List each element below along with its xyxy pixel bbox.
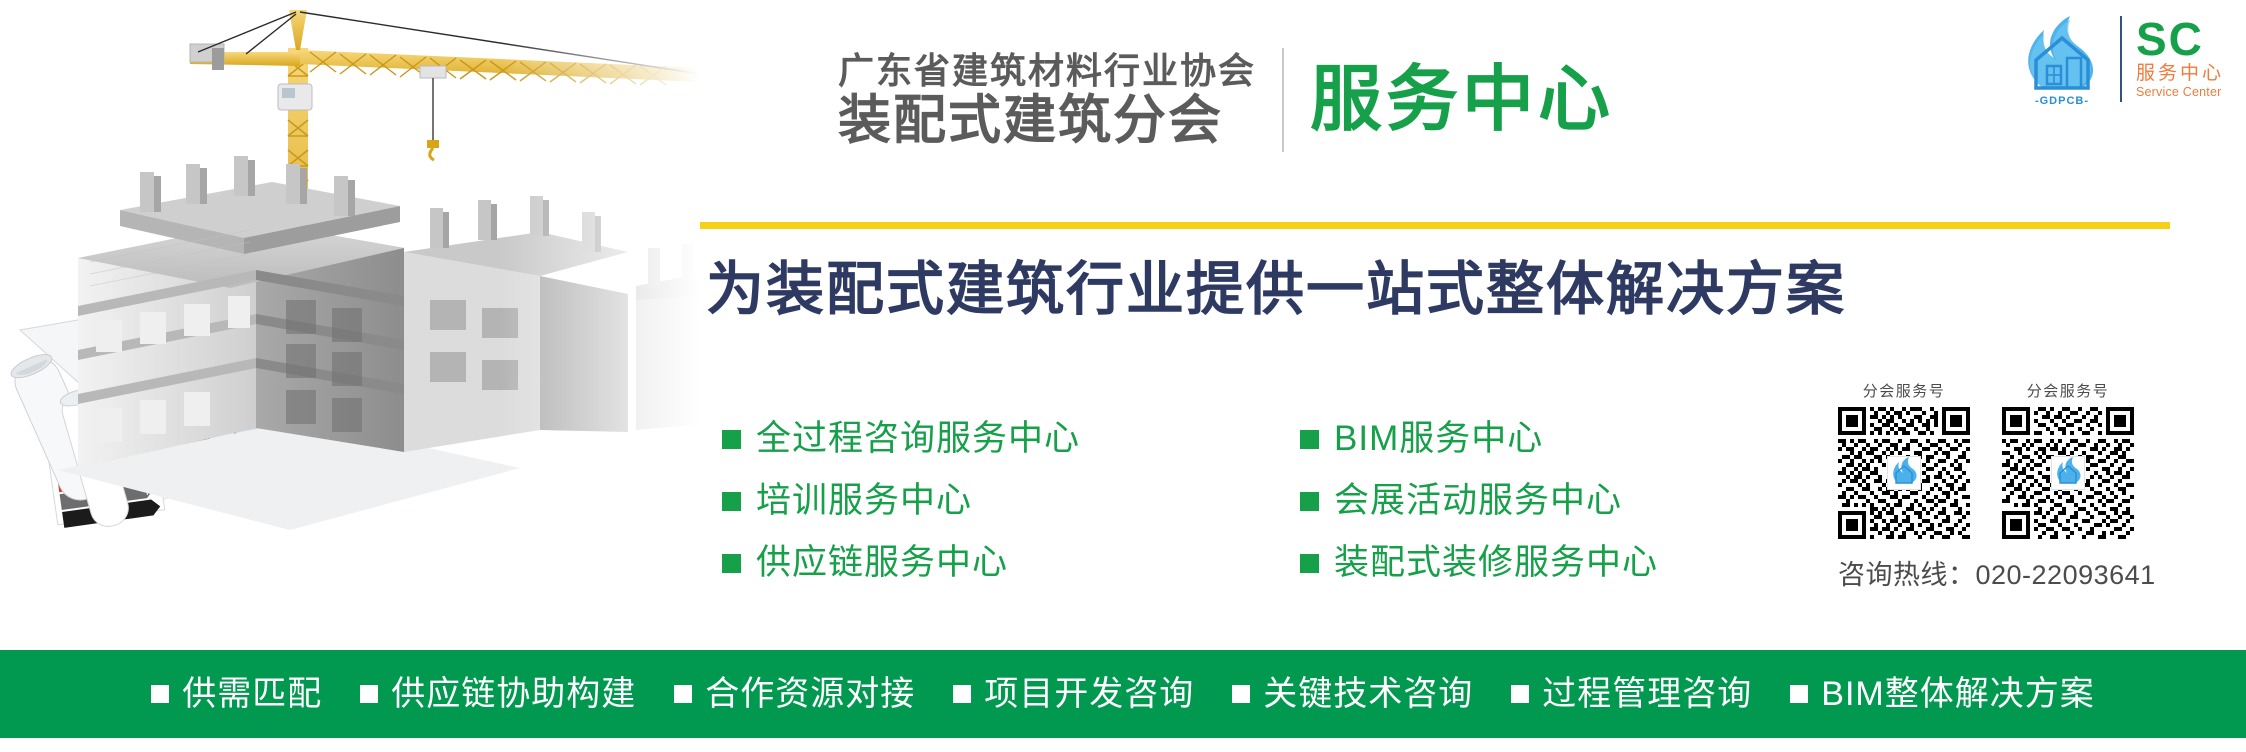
square-bullet-icon [722,492,741,511]
square-bullet-icon [1790,685,1808,703]
footer-item[interactable]: 供应链协助构建 [360,675,636,713]
qr-center-logo-icon [2051,456,2085,490]
footer-item-label: 项目开发咨询 [984,675,1194,713]
organization-name-stack: 广东省建筑材料行业协会 装配式建筑分会 [838,50,1256,150]
square-bullet-icon [360,685,378,703]
square-bullet-icon [722,430,741,449]
square-bullet-icon [1300,430,1319,449]
footer-item-label: BIM整体解决方案 [1821,675,2094,713]
logo-english-name: Service Center [2136,85,2224,99]
square-bullet-icon [1300,554,1319,573]
square-bullet-icon [722,554,741,573]
banner-root: ABC DEF [0,0,2246,752]
footer-item[interactable]: 项目开发咨询 [953,675,1194,713]
footer-item[interactable]: 关键技术咨询 [1232,675,1473,713]
service-label: 培训服务中心 [756,481,972,521]
square-bullet-icon [1232,685,1250,703]
logo-text-block: SC 服务中心 Service Center [2136,14,2224,99]
footer-item-label: 合作资源对接 [705,675,915,713]
service-label: BIM服务中心 [1334,419,1543,459]
service-label: 装配式装修服务中心 [1334,543,1658,583]
service-item[interactable]: BIM服务中心 [1300,408,1658,470]
service-list-right: BIM服务中心 会展活动服务中心 装配式装修服务中心 [1300,408,1658,594]
qr-code-image-1[interactable] [1838,407,1970,539]
service-item[interactable]: 供应链服务中心 [722,532,1080,594]
footer-item[interactable]: 过程管理咨询 [1511,675,1752,713]
brand-logo-lockup[interactable]: -GDPCB- SC 服务中心 Service Center [2014,14,2224,106]
service-item[interactable]: 装配式装修服务中心 [1300,532,1658,594]
footer-item[interactable]: 供需匹配 [151,675,322,713]
qr-caption: 分会服务号 [2002,382,2134,402]
service-item[interactable]: 会展活动服务中心 [1300,470,1658,532]
logo-mark-caption: -GDPCB- [2014,95,2110,107]
footer-items-row: 供需匹配 供应链协助构建 合作资源对接 项目开发咨询 关键技术咨询 过程管理咨询 [132,675,2113,713]
square-bullet-icon [151,685,169,703]
service-item[interactable]: 培训服务中心 [722,470,1080,532]
construction-hero-image: ABC DEF [0,0,700,650]
service-label: 全过程咨询服务中心 [756,419,1080,459]
title-vertical-divider [1282,48,1284,152]
footer-item[interactable]: 合作资源对接 [674,675,915,713]
main-headline: 为装配式建筑行业提供一站式整体解决方案 [706,256,1846,324]
service-center-title: 服务中心 [1310,62,1614,138]
square-bullet-icon [1511,685,1529,703]
footer-item[interactable]: BIM整体解决方案 [1790,675,2094,713]
qr-cell: 分会服务号 [1838,382,1970,539]
footer-item-label: 过程管理咨询 [1542,675,1752,713]
qr-cell: 分会服务号 [2002,382,2134,539]
qr-contact-block: 分会服务号 [1838,382,2230,592]
footer-services-bar: 供需匹配 供应链协助构建 合作资源对接 项目开发咨询 关键技术咨询 过程管理咨询 [0,650,2246,738]
service-label: 会展活动服务中心 [1334,481,1622,521]
service-label: 供应链服务中心 [756,543,1008,583]
construction-illustration: ABC DEF [0,0,700,650]
gold-divider-rule [700,222,2170,229]
footer-item-label: 供应链协助构建 [391,675,636,713]
organization-title-block: 广东省建筑材料行业协会 装配式建筑分会 服务中心 [838,48,1614,152]
qr-code-image-2[interactable] [2002,407,2134,539]
square-bullet-icon [1300,492,1319,511]
square-bullet-icon [674,685,692,703]
qr-row: 分会服务号 [1838,382,2230,539]
logo-chinese-name: 服务中心 [2136,63,2224,85]
branch-name: 装配式建筑分会 [838,92,1256,150]
qr-caption: 分会服务号 [1838,382,1970,402]
house-flame-icon: -GDPCB- [2014,14,2110,106]
logo-divider [2120,16,2122,102]
square-bullet-icon [953,685,971,703]
footer-item-label: 关键技术咨询 [1263,675,1473,713]
service-list-left: 全过程咨询服务中心 培训服务中心 供应链服务中心 [722,408,1080,594]
footer-item-label: 供需匹配 [182,675,322,713]
qr-center-logo-icon [1887,456,1921,490]
hotline-text: 咨询热线：020-22093641 [1838,553,2230,592]
association-name: 广东省建筑材料行业协会 [838,50,1256,92]
service-item[interactable]: 全过程咨询服务中心 [722,408,1080,470]
logo-abbr: SC [2136,16,2224,62]
